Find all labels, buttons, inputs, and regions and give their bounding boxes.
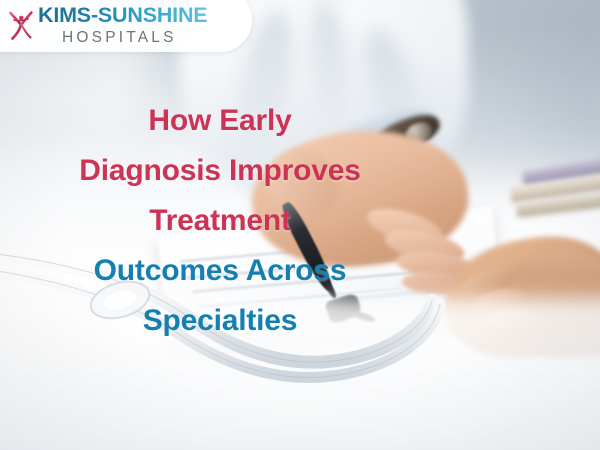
headline: How Early Diagnosis Improves Treatment O… bbox=[0, 96, 440, 346]
logo-badge[interactable]: KIMS-SUNSHINE HOSPITALS bbox=[0, 0, 252, 52]
headline-line-2: Diagnosis Improves bbox=[0, 146, 440, 196]
logo-brand-subtitle: HOSPITALS bbox=[62, 30, 207, 46]
headline-line-5: Specialties bbox=[0, 296, 440, 346]
headline-line-1: How Early bbox=[0, 96, 440, 146]
headline-line-3: Treatment bbox=[0, 196, 440, 246]
blog-banner: KIMS-SUNSHINE HOSPITALS How Early Diagno… bbox=[0, 0, 600, 450]
logo-brand-name: KIMS-SUNSHINE bbox=[38, 5, 207, 27]
stylized-human-figure-icon bbox=[8, 10, 34, 40]
logo-text: KIMS-SUNSHINE HOSPITALS bbox=[38, 5, 207, 45]
headline-line-4: Outcomes Across bbox=[0, 246, 440, 296]
